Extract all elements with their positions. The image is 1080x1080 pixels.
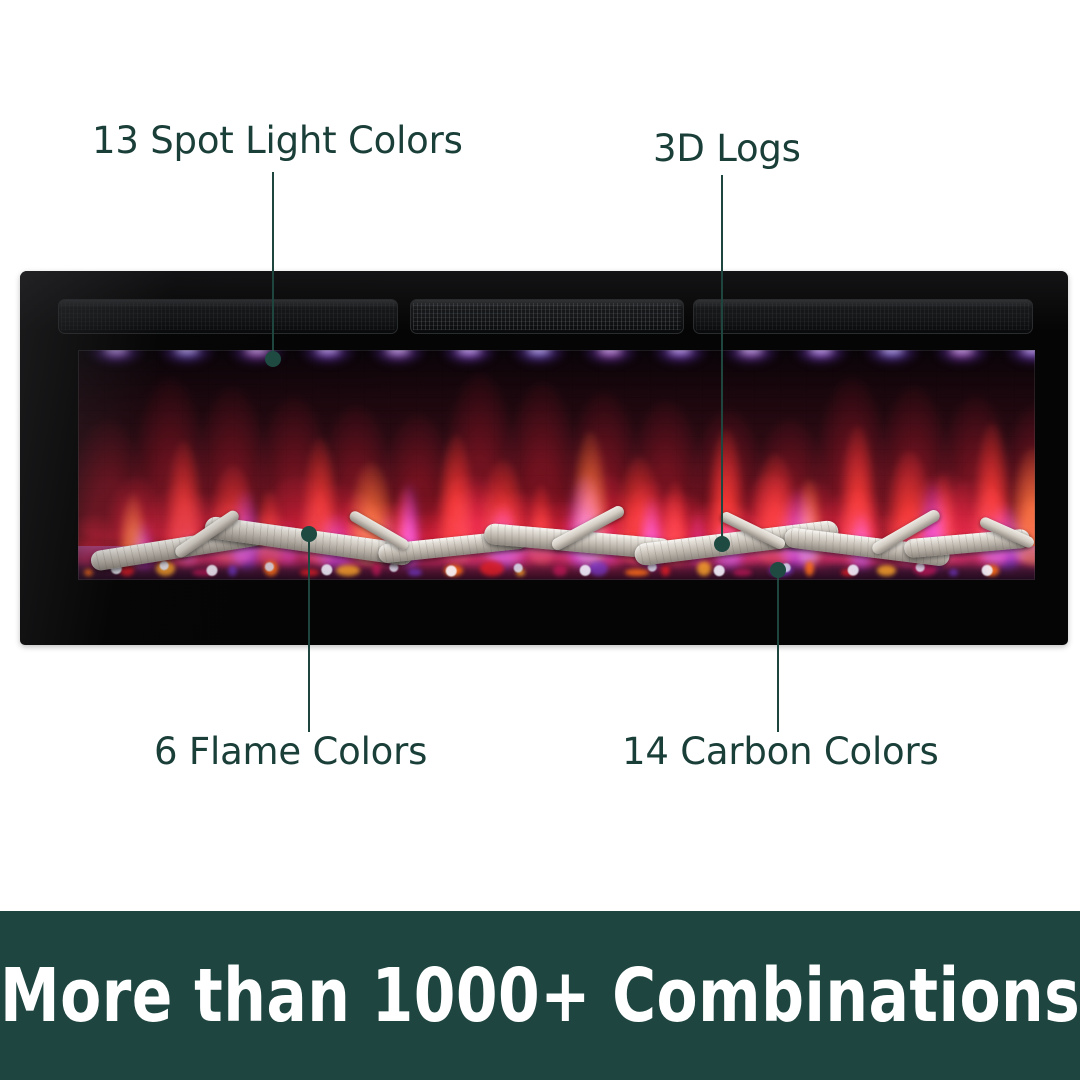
bottom-banner: More than 1000+ Combinations [0, 911, 1080, 1080]
callout-label-carbon: 14 Carbon Colors [622, 733, 939, 770]
leader-dot-logs [714, 536, 730, 552]
vent-slot-right [693, 299, 1033, 334]
infographic-canvas: 13 Spot Light Colors 3D Logs 6 Flame Col… [0, 0, 1080, 1080]
leader-line-flame [308, 532, 310, 732]
vent-slot-center [410, 299, 684, 334]
spot-light-7 [511, 350, 567, 365]
spot-light-5 [370, 350, 426, 365]
spot-light-6 [441, 350, 497, 365]
spot-light-14 [1005, 350, 1035, 365]
spot-light-13 [934, 350, 990, 365]
vent-highlight-left [59, 300, 397, 309]
leader-dot-flame [301, 526, 317, 542]
spot-light-12 [864, 350, 920, 365]
firebox-glass-panel [78, 350, 1035, 580]
spot-light-10 [723, 350, 779, 365]
banner-headline: More than 1000+ Combinations [0, 953, 1080, 1039]
vent-slot-left [58, 299, 398, 334]
spot-light-1 [88, 350, 144, 365]
leader-line-spot-light [272, 172, 274, 360]
spot-light-9 [652, 350, 708, 365]
spot-light-2 [159, 350, 215, 365]
vent-highlight-right [694, 300, 1032, 309]
callout-label-spot-light: 13 Spot Light Colors [92, 122, 463, 159]
electric-fireplace-unit [20, 271, 1068, 645]
vent-highlight-center [411, 300, 683, 309]
callout-label-flame: 6 Flame Colors [154, 733, 427, 770]
leader-dot-carbon [770, 562, 786, 578]
spot-light-rail [78, 350, 1035, 376]
leader-line-logs [721, 175, 723, 545]
leader-line-carbon [777, 568, 779, 732]
callout-label-logs: 3D Logs [653, 130, 801, 167]
leader-dot-spot-light [265, 351, 281, 367]
spot-light-4 [300, 350, 356, 365]
spot-light-11 [793, 350, 849, 365]
spot-light-8 [582, 350, 638, 365]
